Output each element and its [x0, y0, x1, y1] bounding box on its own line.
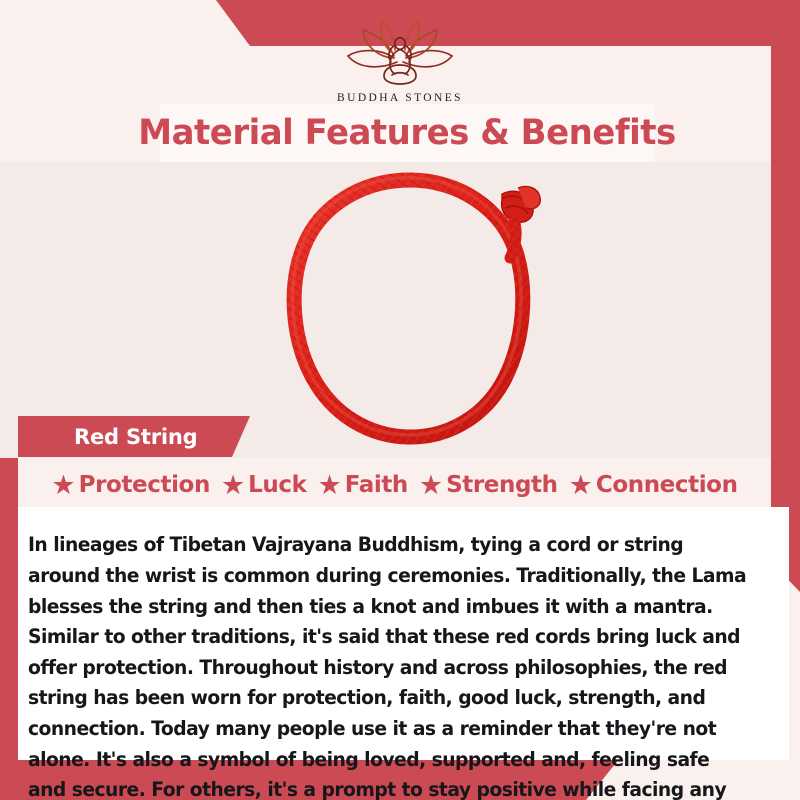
benefit-label: Faith	[345, 472, 408, 498]
page-title-box: Material Features & Benefits	[160, 104, 655, 162]
star-icon: ★	[51, 472, 75, 499]
infographic-page: BUDDHA STONES Material Features & Benefi…	[0, 0, 800, 800]
benefit-item-strength: ★ Strength	[408, 472, 558, 499]
benefit-label: Protection	[79, 472, 210, 498]
product-label-text: Red String	[18, 425, 197, 449]
brand-wordmark: BUDDHA STONES	[0, 92, 800, 104]
star-icon: ★	[419, 472, 443, 499]
benefit-item-faith: ★ Faith	[307, 472, 408, 499]
bracelet-cord-loop	[293, 178, 523, 437]
product-label-banner: Red String	[18, 416, 250, 457]
benefit-item-connection: ★ Connection	[558, 472, 738, 499]
page-title: Material Features & Benefits	[139, 113, 676, 153]
product-photo-red-string-bracelet	[262, 166, 562, 458]
brand-logo: BUDDHA STONES	[0, 18, 800, 104]
benefit-label: Luck	[248, 472, 306, 498]
benefit-item-protection: ★ Protection	[51, 472, 210, 499]
benefits-row: ★ Protection ★ Luck ★ Faith ★ Strength ★…	[18, 463, 771, 507]
benefit-item-luck: ★ Luck	[210, 472, 307, 499]
star-icon: ★	[569, 472, 593, 499]
benefit-label: Connection	[596, 472, 738, 498]
page-header: BUDDHA STONES Material Features & Benefi…	[0, 0, 800, 162]
body-paragraph: In lineages of Tibetan Vajrayana Buddhis…	[28, 530, 750, 800]
benefit-label: Strength	[446, 472, 558, 498]
star-icon: ★	[318, 472, 342, 499]
lotus-meditation-logo-icon	[334, 18, 466, 90]
star-icon: ★	[221, 472, 245, 499]
